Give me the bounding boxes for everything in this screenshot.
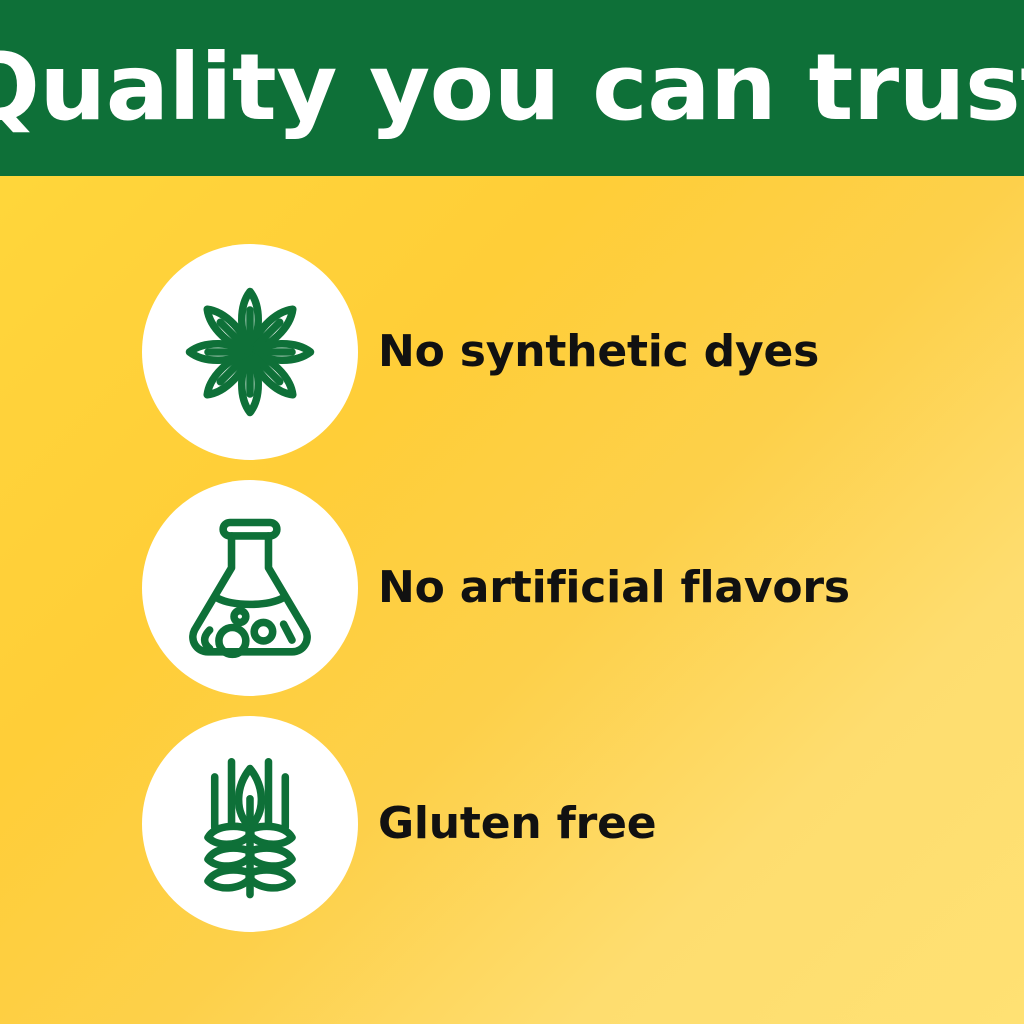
feature-label: No synthetic dyes (378, 330, 819, 374)
page-title: Quality you can trust (0, 42, 1024, 134)
feature-item-no-artificial-flavors: No artificial flavors (142, 480, 962, 696)
wheat-stalk-icon (166, 740, 334, 908)
feature-item-gluten-free: Gluten free (142, 716, 962, 932)
icon-badge (142, 244, 358, 460)
icon-badge (142, 716, 358, 932)
flower-burst-icon (166, 268, 334, 436)
header-banner: Quality you can trust (0, 0, 1024, 176)
feature-list: No synthetic dyes (0, 176, 1024, 1024)
feature-label: Gluten free (378, 802, 656, 846)
quality-promise-poster: Quality you can trust (0, 0, 1024, 1024)
icon-badge (142, 480, 358, 696)
erlenmeyer-flask-icon (166, 504, 334, 672)
feature-label: No artificial flavors (378, 566, 850, 610)
feature-item-no-synthetic-dyes: No synthetic dyes (142, 244, 962, 460)
